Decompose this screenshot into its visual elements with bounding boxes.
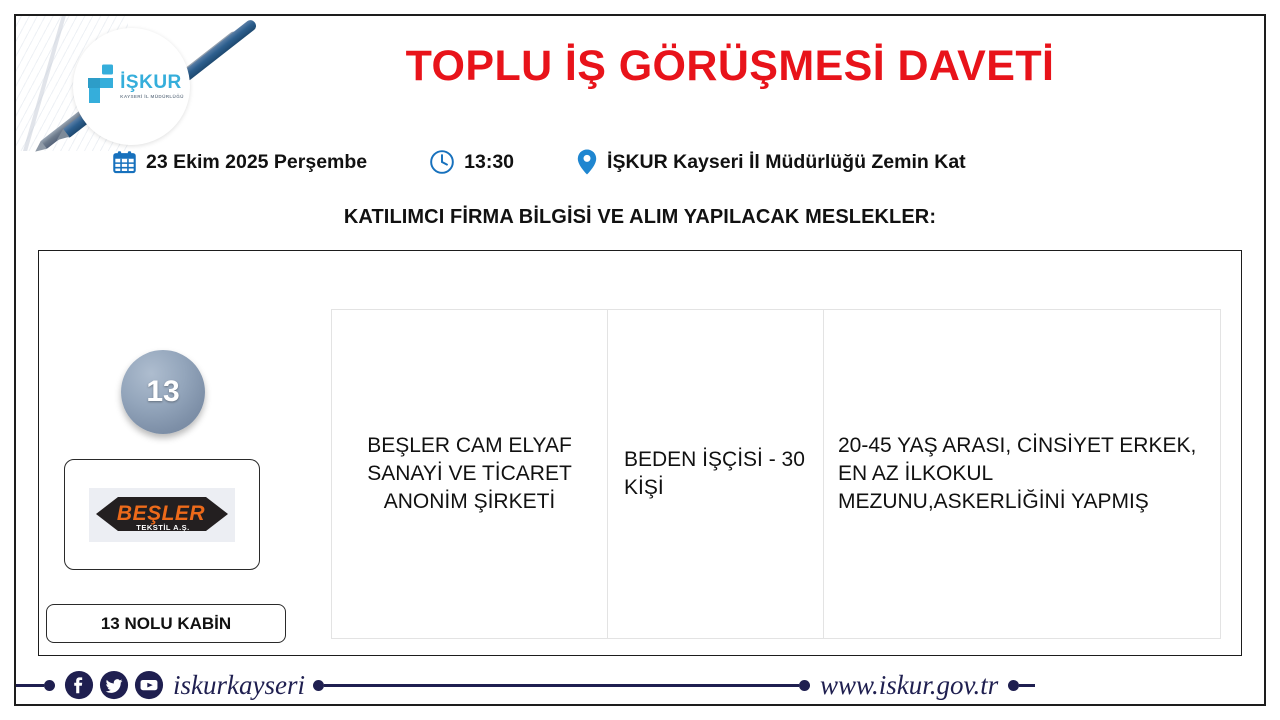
event-date: 23 Ekim 2025 Perşembe [112,150,367,175]
facebook-icon[interactable] [64,670,94,700]
event-date-text: 23 Ekim 2025 Perşembe [146,151,367,174]
cell-company-name: BEŞLER CAM ELYAF SANAYİ VE TİCARET ANONİ… [332,310,608,638]
svg-text:BEŞLER: BEŞLER [117,502,206,525]
twitter-icon[interactable] [99,670,129,700]
cell-requirements: 20-45 YAŞ ARASI, CİNSİYET ERKEK, EN AZ İ… [824,310,1220,638]
booth-number-badge: 13 [121,350,205,434]
svg-text:TEKSTİL A.Ş.: TEKSTİL A.Ş. [136,523,190,532]
table-row: BEŞLER CAM ELYAF SANAYİ VE TİCARET ANONİ… [331,309,1221,639]
footer-dot-3 [799,680,810,691]
youtube-icon[interactable] [134,670,164,700]
page-title: TOPLU İŞ GÖRÜŞMESİ DAVETİ [250,42,1210,91]
iskur-logo: İŞKUR KAYSERİ İL MÜDÜRLÜĞÜ [73,28,190,145]
map-pin-icon [576,148,598,176]
calendar-icon [112,150,137,175]
footer-line-left [16,684,44,687]
besler-logo: BEŞLER TEKSTİL A.Ş. [89,488,235,542]
iskur-logo-subtitle: KAYSERİ İL MÜDÜRLÜĞÜ [120,95,184,100]
footer-dot-4 [1008,680,1019,691]
iskur-logo-mark [83,64,117,109]
footer-dot-1 [44,680,55,691]
footer: iskurkayseri www.iskur.gov.tr [16,664,1264,706]
cabin-label: 13 NOLU KABİN [46,604,286,643]
event-time: 13:30 [429,149,514,175]
iskur-logo-name: İŞKUR [120,73,184,92]
section-subtitle: KATILIMCI FİRMA BİLGİSİ VE ALIM YAPILACA… [40,206,1240,229]
event-location-text: İŞKUR Kayseri İl Müdürlüğü Zemin Kat [607,151,966,174]
event-time-text: 13:30 [464,151,514,174]
footer-line-right [1019,684,1035,687]
website-url: www.iskur.gov.tr [820,670,998,701]
event-info-bar: 23 Ekim 2025 Perşembe 13:30 İŞKUR K [112,146,966,178]
social-icons [64,670,164,700]
cell-position: BEDEN İŞÇİSİ - 30 KİŞİ [608,310,824,638]
poster-slide: İŞKUR KAYSERİ İL MÜDÜRLÜĞÜ TOPLU İŞ GÖRÜ… [0,0,1280,720]
social-handle: iskurkayseri [173,670,305,701]
event-location: İŞKUR Kayseri İl Müdürlüğü Zemin Kat [576,148,966,176]
company-logo-box: BEŞLER TEKSTİL A.Ş. [64,459,260,570]
footer-line-middle [324,684,799,687]
clock-icon [429,149,455,175]
footer-dot-2 [313,680,324,691]
